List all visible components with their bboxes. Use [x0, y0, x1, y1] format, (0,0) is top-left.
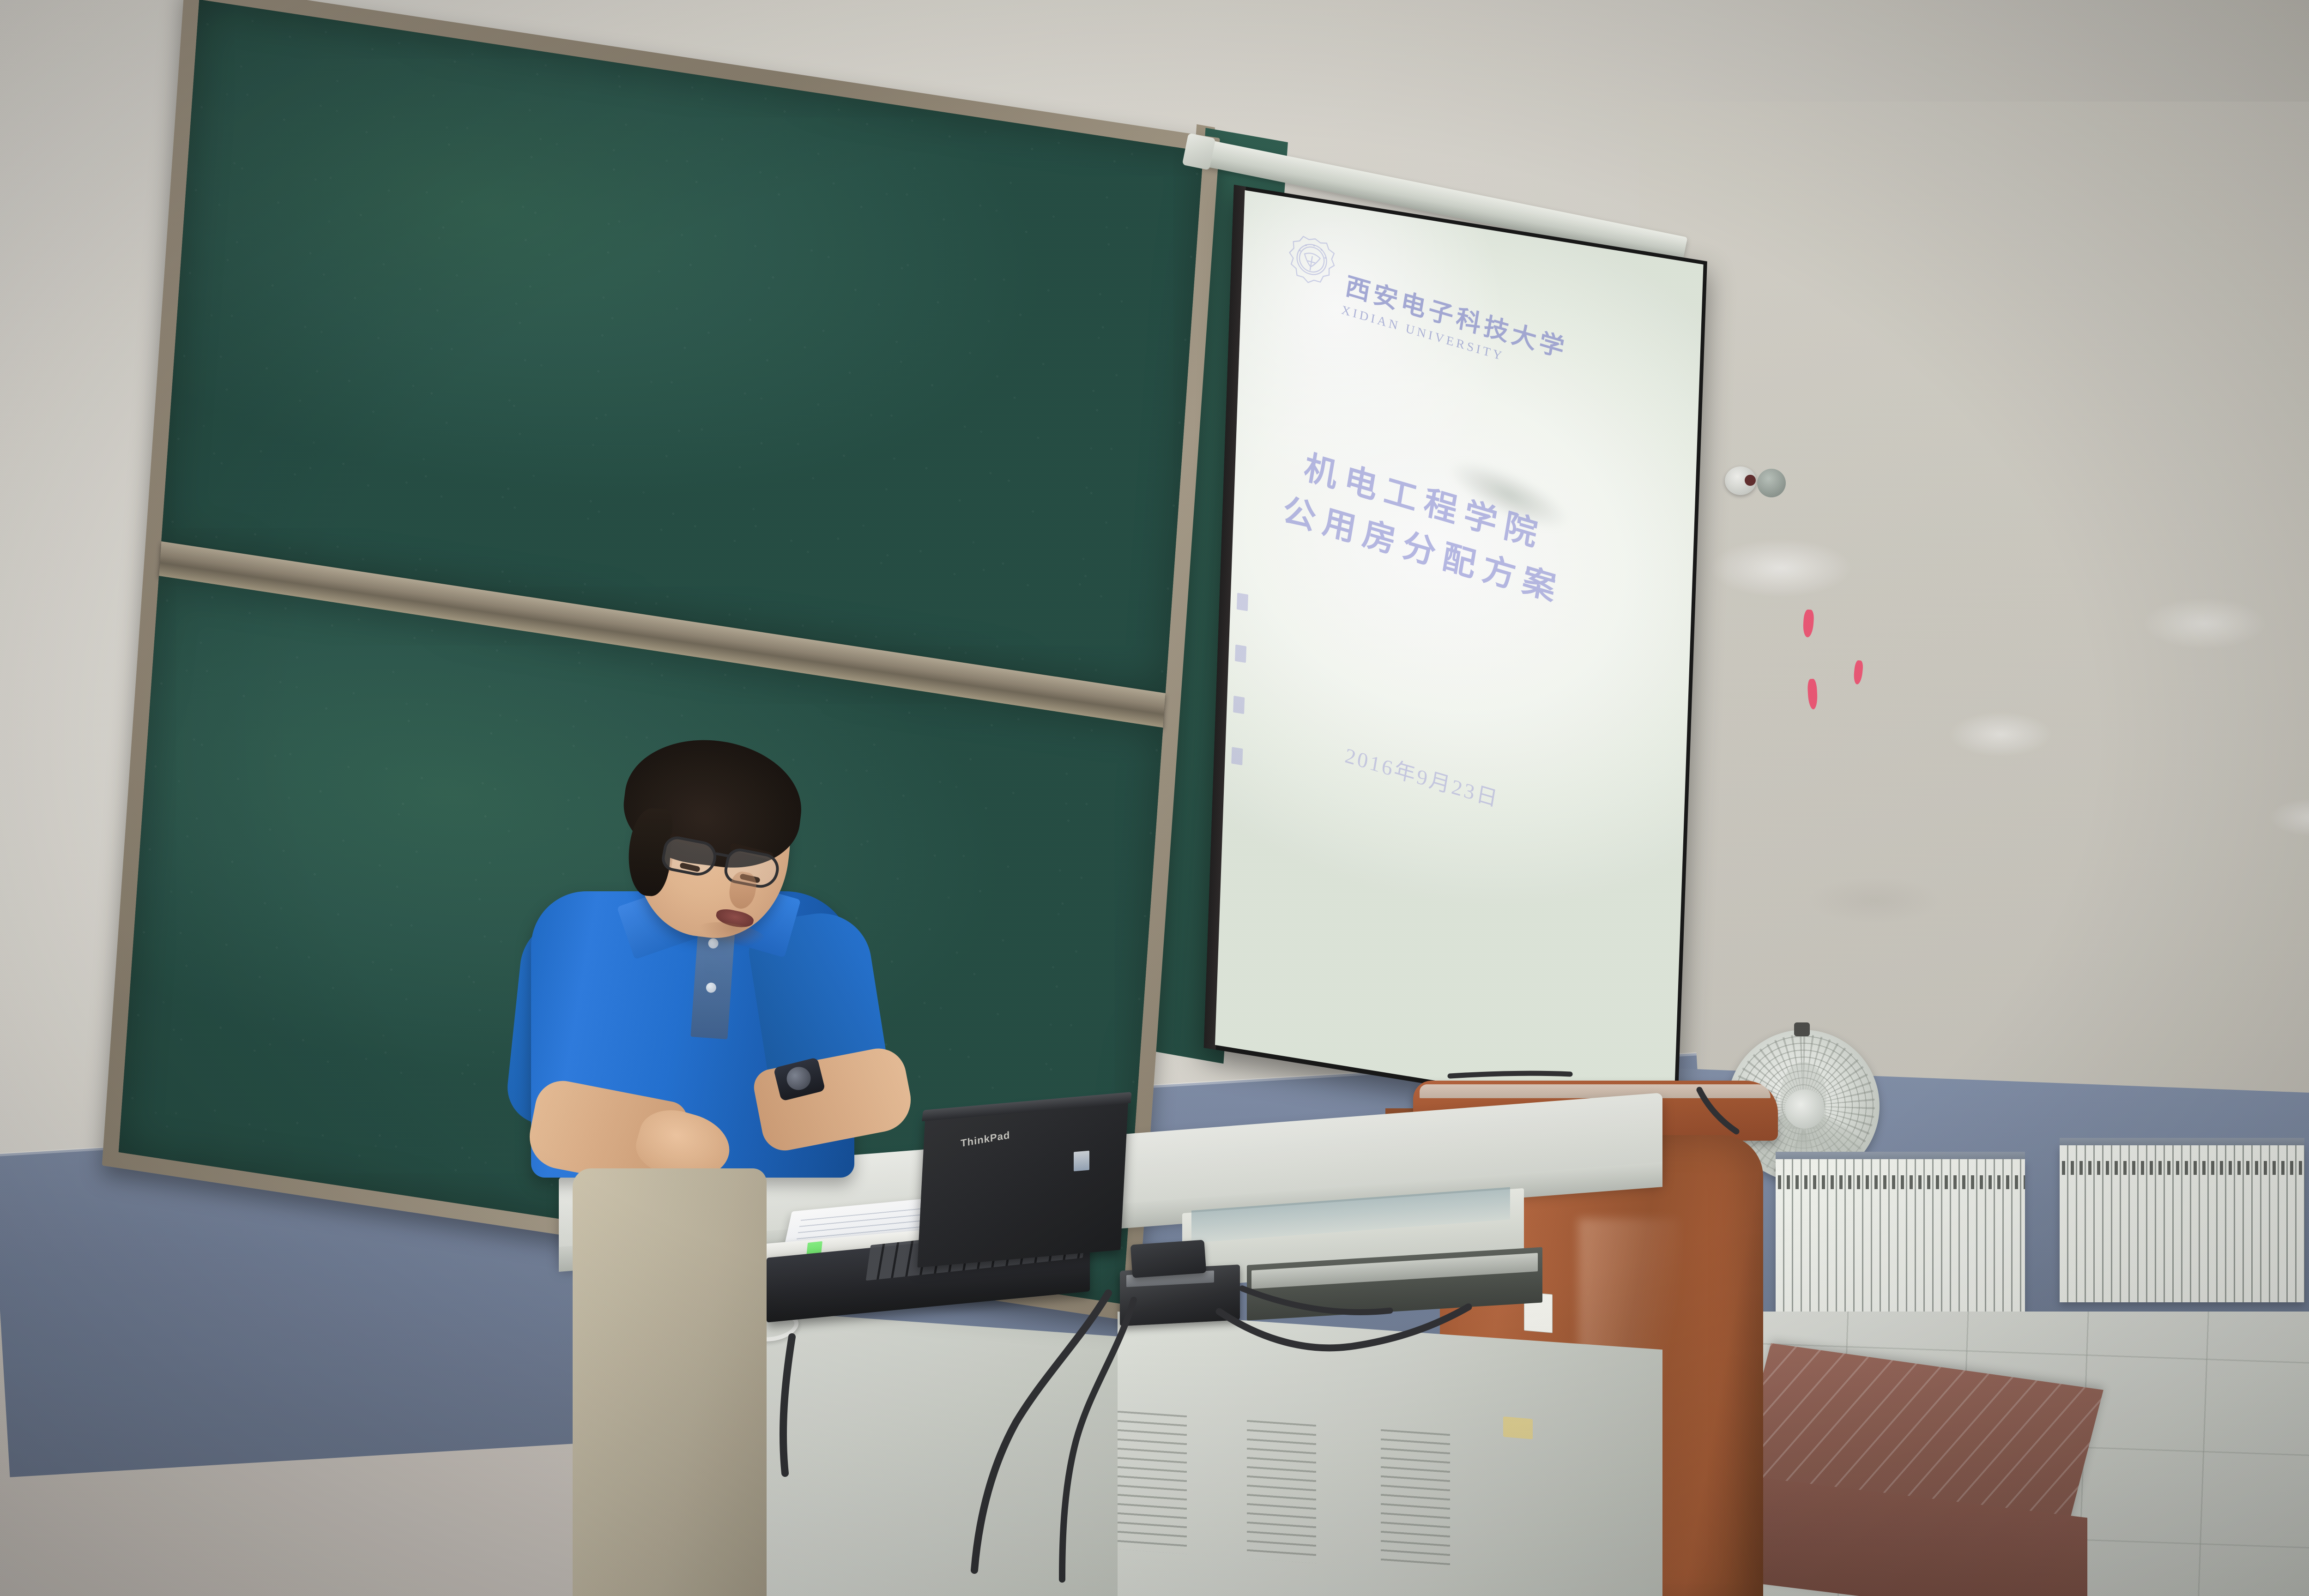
- wall-sensor-dome-icon: [1757, 469, 1786, 497]
- radiator-bolt-row: [2060, 1161, 2304, 1175]
- slide-edge-fragment-2: [1235, 644, 1246, 663]
- fan-hub: [1785, 1089, 1825, 1129]
- projection-screen: 西安电子科技大学 XIDIAN UNIVERSITY 机电工程学院 公用房分配方…: [1204, 185, 1707, 1124]
- lectern-desktop-surface: [1420, 1084, 1771, 1098]
- presentation-remote[interactable]: [1130, 1240, 1207, 1278]
- projected-slide: 西安电子科技大学 XIDIAN UNIVERSITY 机电工程学院 公用房分配方…: [1215, 190, 1704, 1119]
- cabinet-vent-mid: [1118, 1411, 1187, 1554]
- cabinet-asset-tag: [1503, 1416, 1533, 1439]
- screen-roller-end-cap: [1182, 133, 1216, 170]
- wall-camera-lens-icon: [1745, 475, 1756, 486]
- slide-edge-fragment-1: [1237, 593, 1248, 611]
- presenter: presenter: [499, 739, 1053, 1596]
- eyeglass-lens-left: [659, 834, 719, 879]
- radiator-bolt-row: [1776, 1175, 2025, 1189]
- radiator-left: [1776, 1159, 2025, 1321]
- slide-date: 2016年9月23日: [1343, 738, 1502, 813]
- cabinet-vent-right: [1247, 1420, 1316, 1563]
- fan-mount-knob: [1794, 1022, 1810, 1036]
- cabinet-vent-far-right: [1381, 1429, 1450, 1568]
- laptop-spec-sticker: [1074, 1151, 1089, 1172]
- classroom-photo-scene: Classroom presentation — lecturer at pod…: [0, 0, 2309, 1596]
- presenter-trousers: [573, 1168, 767, 1596]
- wall-patch-texture: [1639, 416, 2309, 1108]
- watch-face: [784, 1064, 813, 1093]
- slide-edge-fragment-4: [1231, 747, 1243, 765]
- polo-button-bottom: [706, 982, 716, 993]
- radiator-right: [2060, 1145, 2304, 1302]
- slide-edge-fragment-3: [1233, 695, 1245, 714]
